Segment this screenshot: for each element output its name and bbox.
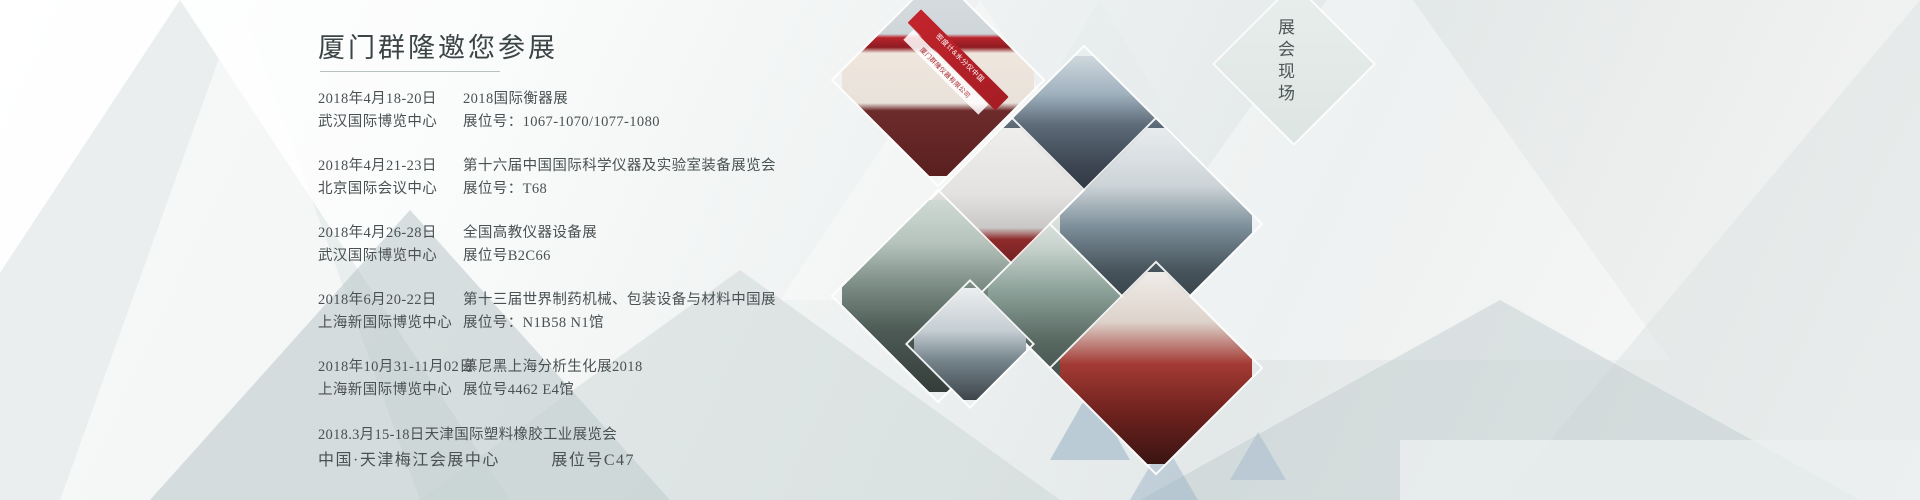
entry-booth: 展位号：N1B58 N1馆 — [453, 312, 604, 335]
entry-booth: 展位号：1067-1070/1077-1080 — [453, 111, 660, 134]
entry-name: 全国高教仪器设备展 — [453, 222, 597, 245]
entry-name: 第十六届中国国际科学仪器及实验室装备展览会 — [453, 155, 776, 178]
entry-date: 2018年10月31-11月02日 — [318, 356, 453, 379]
entry-date: 2018年6月20-22日 — [318, 289, 453, 312]
entry-booth: 展位号B2C66 — [453, 245, 551, 268]
entry-date: 2018年4月21-23日 — [318, 155, 453, 178]
entry-venue-row: 中国·天津梅江会展中心 展位号C47 — [318, 446, 1078, 470]
entry-venue: 中国·天津梅江会展中心 — [318, 452, 500, 469]
bg-triangle-accent-3 — [1230, 432, 1286, 480]
entry-date: 2018年4月26-28日 — [318, 222, 453, 245]
entry-name: 慕尼黑上海分析生化展2018 — [453, 356, 643, 379]
entry-booth: 展位号：T68 — [453, 178, 547, 201]
entry-name: 第十三届世界制药机械、包装设备与材料中国展 — [453, 289, 776, 312]
vertical-title: 展会现场 — [1272, 18, 1297, 106]
bg-polygon-6 — [1500, 0, 1920, 500]
bg-polygon-7 — [1140, 300, 1860, 500]
entry-date-and-name: 2018.3月15-18日天津国际塑料橡胶工业展览会 — [318, 423, 1078, 444]
entry-booth: 展位号C47 — [551, 452, 635, 469]
entry-venue: 上海新国际博览中心 — [318, 312, 453, 335]
exhibition-banner: 厦门群隆邀您参展 2018年4月18-20日 2018国际衡器展 武汉国际博览中… — [0, 0, 1920, 500]
entry-date: 2018年4月18-20日 — [318, 88, 453, 111]
entry-venue: 武汉国际博览中心 — [318, 111, 453, 134]
photo-collage: 密度计&水分仪中国 厦门群隆仪器有限公司 — [830, 0, 1220, 420]
entry-venue: 上海新国际博览中心 — [318, 379, 453, 402]
exhibition-entry-6: 2018.3月15-18日天津国际塑料橡胶工业展览会 中国·天津梅江会展中心 展… — [318, 423, 1078, 470]
entry-name: 2018国际衡器展 — [453, 88, 568, 111]
entry-venue: 北京国际会议中心 — [318, 178, 453, 201]
bg-polygon-12 — [1400, 440, 1920, 500]
entry-venue: 武汉国际博览中心 — [318, 245, 453, 268]
entry-booth: 展位号4462 E4馆 — [453, 379, 574, 402]
title-divider — [320, 71, 500, 72]
